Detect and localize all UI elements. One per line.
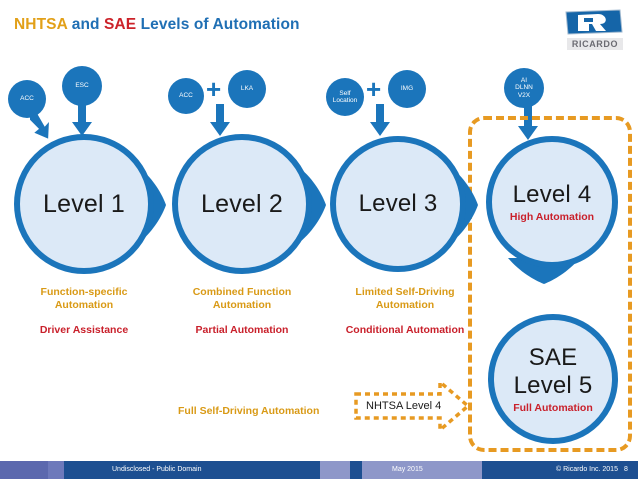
caption-3-nhtsa-line2: Automation (322, 299, 488, 312)
level-5-sublabel: Full Automation (513, 402, 593, 414)
full-self-driving-label: Full Self-Driving Automation (178, 405, 319, 417)
caption-2-nhtsa-line1: Combined Function (164, 286, 320, 299)
caption-3-nhtsa-line1: Limited Self-Driving (322, 286, 488, 299)
plus-sign-group-3: + (366, 76, 381, 102)
footer-seg-5 (350, 461, 362, 479)
level-5-label-sae: SAE (529, 344, 578, 372)
arrow-to-level3-icon (368, 104, 392, 138)
caption-2-nhtsa-line2: Automation (164, 299, 320, 312)
caption-1-nhtsa-line2: Automation (6, 299, 162, 312)
ricardo-flag-icon (562, 8, 626, 38)
sensor-label: AIDLNNV2X (515, 77, 533, 98)
title-rest: Levels of Automation (136, 16, 299, 33)
caption-level-2: Combined Function Automation Partial Aut… (164, 286, 320, 337)
sensor-bubble-lka-2: LKA (228, 70, 266, 108)
footer-seg-1 (0, 461, 48, 479)
title-nhtsa: NHTSA (14, 16, 67, 33)
caption-1-nhtsa-line1: Function-specific (6, 286, 162, 299)
callout-label: NHTSA Level 4 (366, 400, 441, 412)
plus-sign-group-2: + (206, 76, 221, 102)
footer-seg-2 (48, 461, 64, 479)
sensor-bubble-ai-4: AIDLNNV2X (504, 68, 544, 108)
level-2-circle[interactable]: Level 2 (172, 134, 312, 274)
caption-1-sae: Driver Assistance (6, 324, 162, 337)
slide-canvas: NHTSA and SAE Levels of Automation RICAR… (0, 0, 638, 479)
level-1-circle[interactable]: Level 1 (14, 134, 154, 274)
sensor-label: IMG (401, 85, 413, 92)
level-5-label-level: Level 5 (514, 372, 593, 400)
sensor-bubble-esc-1: ESC (62, 66, 102, 106)
caption-level-1: Function-specific Automation Driver Assi… (6, 286, 162, 337)
footer-classification: Undisclosed - Public Domain (112, 461, 201, 479)
sensor-label: LKA (241, 85, 253, 92)
caption-3-sae: Conditional Automation (322, 324, 488, 337)
ricardo-wordmark: RICARDO (567, 38, 623, 50)
sensor-label: ACC (179, 92, 193, 99)
sensor-bubble-self-location-3: SelfLocation (326, 78, 364, 116)
sensor-bubble-acc-2: ACC (168, 78, 204, 114)
caption-level-3: Limited Self-Driving Automation Conditio… (322, 286, 488, 337)
footer-page-number: 8 (624, 461, 628, 479)
level-2-label: Level 2 (201, 190, 283, 219)
page-title: NHTSA and SAE Levels of Automation (14, 16, 300, 34)
footer-copyright: © Ricardo Inc. 2015 (556, 461, 618, 479)
level-3-circle[interactable]: Level 3 (330, 136, 466, 272)
sensor-bubble-img-3: IMG (388, 70, 426, 108)
level-1-label: Level 1 (43, 190, 125, 219)
sensor-label: ACC (20, 95, 34, 102)
sensor-label: ESC (75, 82, 88, 89)
title-sae: SAE (104, 16, 136, 33)
level-4-label: Level 4 (513, 181, 592, 209)
arrow-esc-to-level1-icon (70, 104, 94, 138)
level-4-sublabel: High Automation (510, 211, 594, 223)
footer-date: May 2015 (392, 461, 423, 479)
sensor-label: SelfLocation (333, 90, 358, 104)
footer-bar: Undisclosed - Public Domain May 2015 © R… (0, 461, 638, 479)
title-and: and (67, 16, 104, 33)
ricardo-logo: RICARDO (562, 8, 626, 52)
arrow-acc-to-level1-icon (30, 110, 62, 142)
arrow-to-level2-icon (208, 104, 232, 138)
level-5-circle[interactable]: SAE Level 5 Full Automation (488, 314, 618, 444)
caption-2-sae: Partial Automation (164, 324, 320, 337)
level-4-circle[interactable]: Level 4 High Automation (486, 136, 618, 268)
level-3-label: Level 3 (359, 190, 438, 218)
footer-seg-4 (320, 461, 350, 479)
